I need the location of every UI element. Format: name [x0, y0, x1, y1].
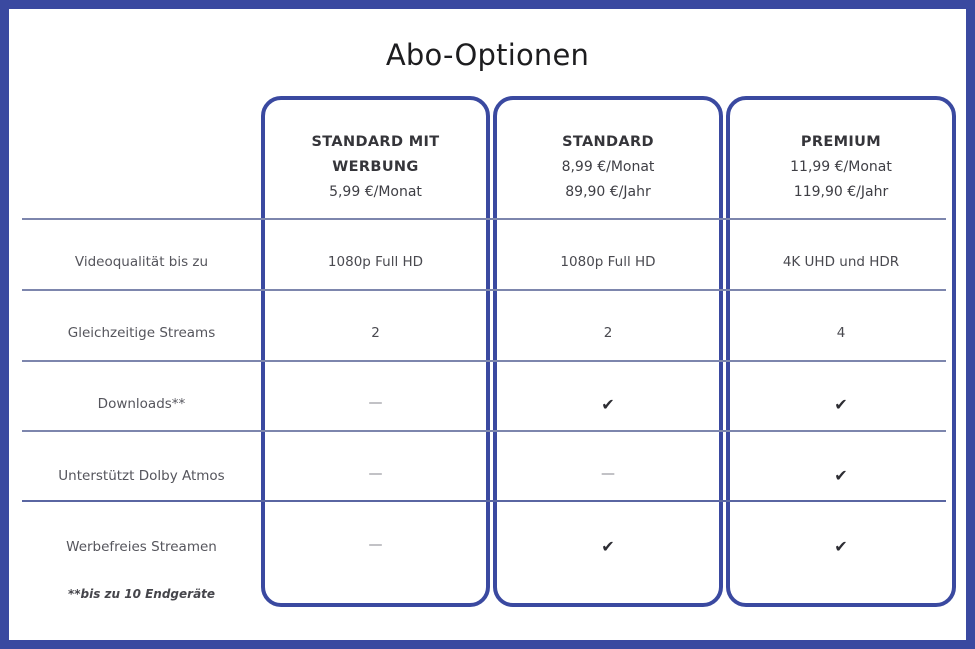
check-icon: ✔ [601, 395, 614, 414]
page-title: Abo-Optionen [9, 38, 966, 72]
pricing-comparison-page: Abo-Optionen STANDARD MIT WERBUNG 5,99 €… [0, 0, 975, 649]
cell-werbefrei-standard-mit-werbung: — [261, 537, 490, 553]
plan-name-line: PREMIUM [730, 130, 952, 155]
cell-streams-standard-mit-werbung: 2 [261, 325, 490, 341]
dash-icon: — [369, 395, 383, 411]
plan-card-standard[interactable]: STANDARD 8,99 €/Monat 89,90 €/Jahr [493, 96, 723, 607]
check-icon: ✔ [601, 537, 614, 556]
cell-videoqualitaet-standard: 1080p Full HD [493, 254, 723, 270]
cell-werbefrei-premium: ✔ [726, 537, 956, 556]
dash-icon: — [369, 537, 383, 553]
plan-price-monthly: 11,99 €/Monat [730, 155, 952, 180]
plan-header: STANDARD MIT WERBUNG 5,99 €/Monat [265, 130, 486, 205]
footnote: **bis zu 10 Endgeräte [22, 587, 261, 601]
check-icon: ✔ [834, 466, 847, 485]
cell-streams-standard: 2 [493, 325, 723, 341]
plan-price-monthly: 5,99 €/Monat [265, 180, 486, 205]
row-label-videoqualitaet: Videoqualität bis zu [22, 254, 261, 270]
dash-icon: — [601, 466, 615, 482]
cell-downloads-standard: ✔ [493, 395, 723, 414]
plan-name-line: STANDARD [497, 130, 719, 155]
cell-dolby-standard-mit-werbung: — [261, 466, 490, 482]
row-divider [22, 500, 946, 502]
plan-price-yearly: 89,90 €/Jahr [497, 180, 719, 205]
cell-videoqualitaet-premium: 4K UHD und HDR [726, 254, 956, 270]
row-divider [22, 218, 946, 220]
plan-card-standard-mit-werbung[interactable]: STANDARD MIT WERBUNG 5,99 €/Monat [261, 96, 490, 607]
row-label-dolby-atmos: Unterstützt Dolby Atmos [22, 468, 261, 484]
row-divider [22, 430, 946, 432]
row-label-gleichzeitige-streams: Gleichzeitige Streams [22, 325, 261, 341]
dash-icon: — [369, 466, 383, 482]
plan-header: STANDARD 8,99 €/Monat 89,90 €/Jahr [497, 130, 719, 205]
check-icon: ✔ [834, 537, 847, 556]
row-label-werbefreies-streamen: Werbefreies Streamen [22, 539, 261, 555]
check-icon: ✔ [834, 395, 847, 414]
cell-dolby-standard: — [493, 466, 723, 482]
cell-downloads-standard-mit-werbung: — [261, 395, 490, 411]
plan-name-line: WERBUNG [265, 155, 486, 180]
row-divider [22, 360, 946, 362]
cell-downloads-premium: ✔ [726, 395, 956, 414]
plan-header: PREMIUM 11,99 €/Monat 119,90 €/Jahr [730, 130, 952, 205]
cell-dolby-premium: ✔ [726, 466, 956, 485]
cell-videoqualitaet-standard-mit-werbung: 1080p Full HD [261, 254, 490, 270]
row-divider [22, 289, 946, 291]
cell-werbefrei-standard: ✔ [493, 537, 723, 556]
plan-price-monthly: 8,99 €/Monat [497, 155, 719, 180]
plan-card-premium[interactable]: PREMIUM 11,99 €/Monat 119,90 €/Jahr [726, 96, 956, 607]
cell-streams-premium: 4 [726, 325, 956, 341]
plan-price-yearly: 119,90 €/Jahr [730, 180, 952, 205]
plan-name-line: STANDARD MIT [265, 130, 486, 155]
row-label-downloads: Downloads** [22, 396, 261, 412]
